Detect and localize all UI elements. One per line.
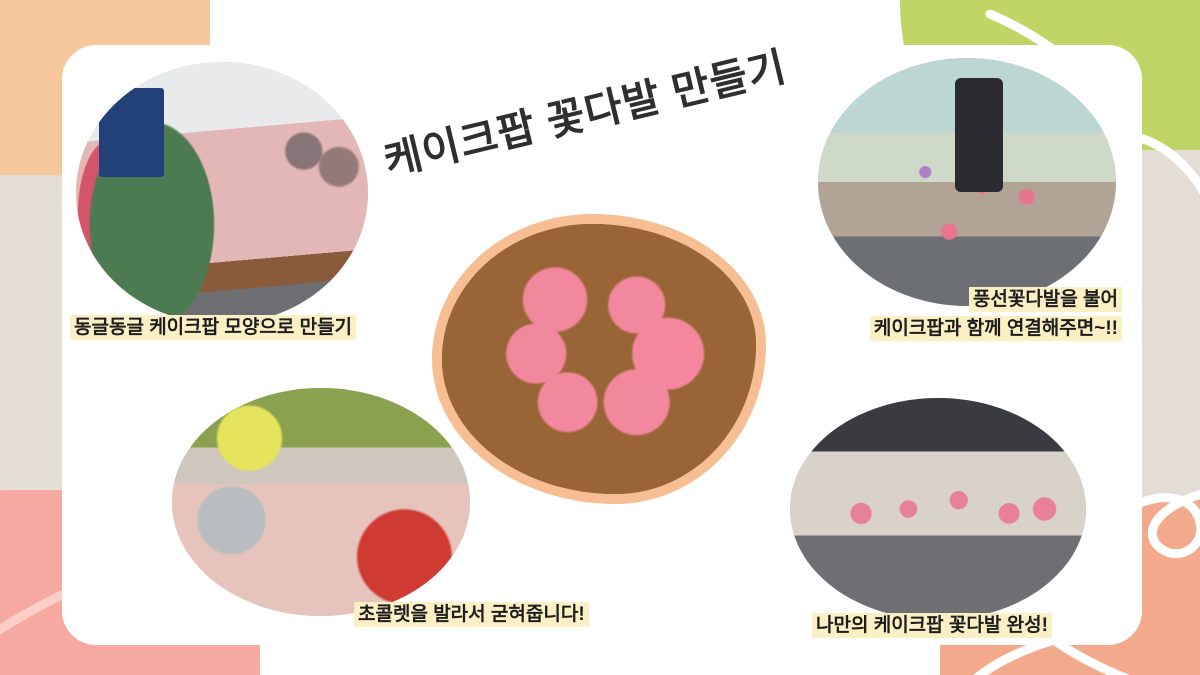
caption-line: 나만의 케이크팝 꽃다발 완성! [812, 613, 1052, 638]
photo-balloon-flower-classroom [818, 58, 1116, 306]
poster-canvas: 케이크팝 꽃다발 만들기 동글동글 케이크팝 모양으로 만들기 풍선꽃다발을 불… [0, 0, 1200, 675]
photo-image-5 [442, 224, 756, 494]
caption-line: 풍선꽃다발을 불어 [870, 286, 1122, 315]
caption-balloon-flower: 풍선꽃다발을 불어 케이크팝과 함께 연결해주면~!! [870, 286, 1122, 344]
photo-image-1 [76, 62, 368, 324]
photo-group-finished-bouquets [790, 398, 1086, 620]
photo-image-3 [172, 388, 470, 616]
photo-cakepop-shaping [76, 62, 368, 324]
caption-line: 동글동글 케이크팝 모양으로 만들기 [70, 315, 356, 340]
photo-image-4 [790, 398, 1086, 620]
caption-chocolate-coating: 초콜렛을 발라서 굳혀줍니다! [354, 601, 589, 630]
caption-line: 케이크팝과 함께 연결해주면~!! [870, 315, 1122, 344]
photo-chocolate-coating [172, 388, 470, 616]
photo-center-bouquet-display [432, 214, 766, 504]
photo-image-2 [818, 58, 1116, 306]
caption-finished-bouquet: 나만의 케이크팝 꽃다발 완성! [812, 612, 1052, 641]
caption-cakepop-shaping: 동글동글 케이크팝 모양으로 만들기 [70, 314, 356, 343]
caption-line-text: 케이크팝과 함께 연결해주면~!! [870, 316, 1122, 341]
caption-line: 초콜렛을 발라서 굳혀줍니다! [354, 602, 589, 627]
caption-line-text: 풍선꽃다발을 불어 [969, 287, 1122, 312]
